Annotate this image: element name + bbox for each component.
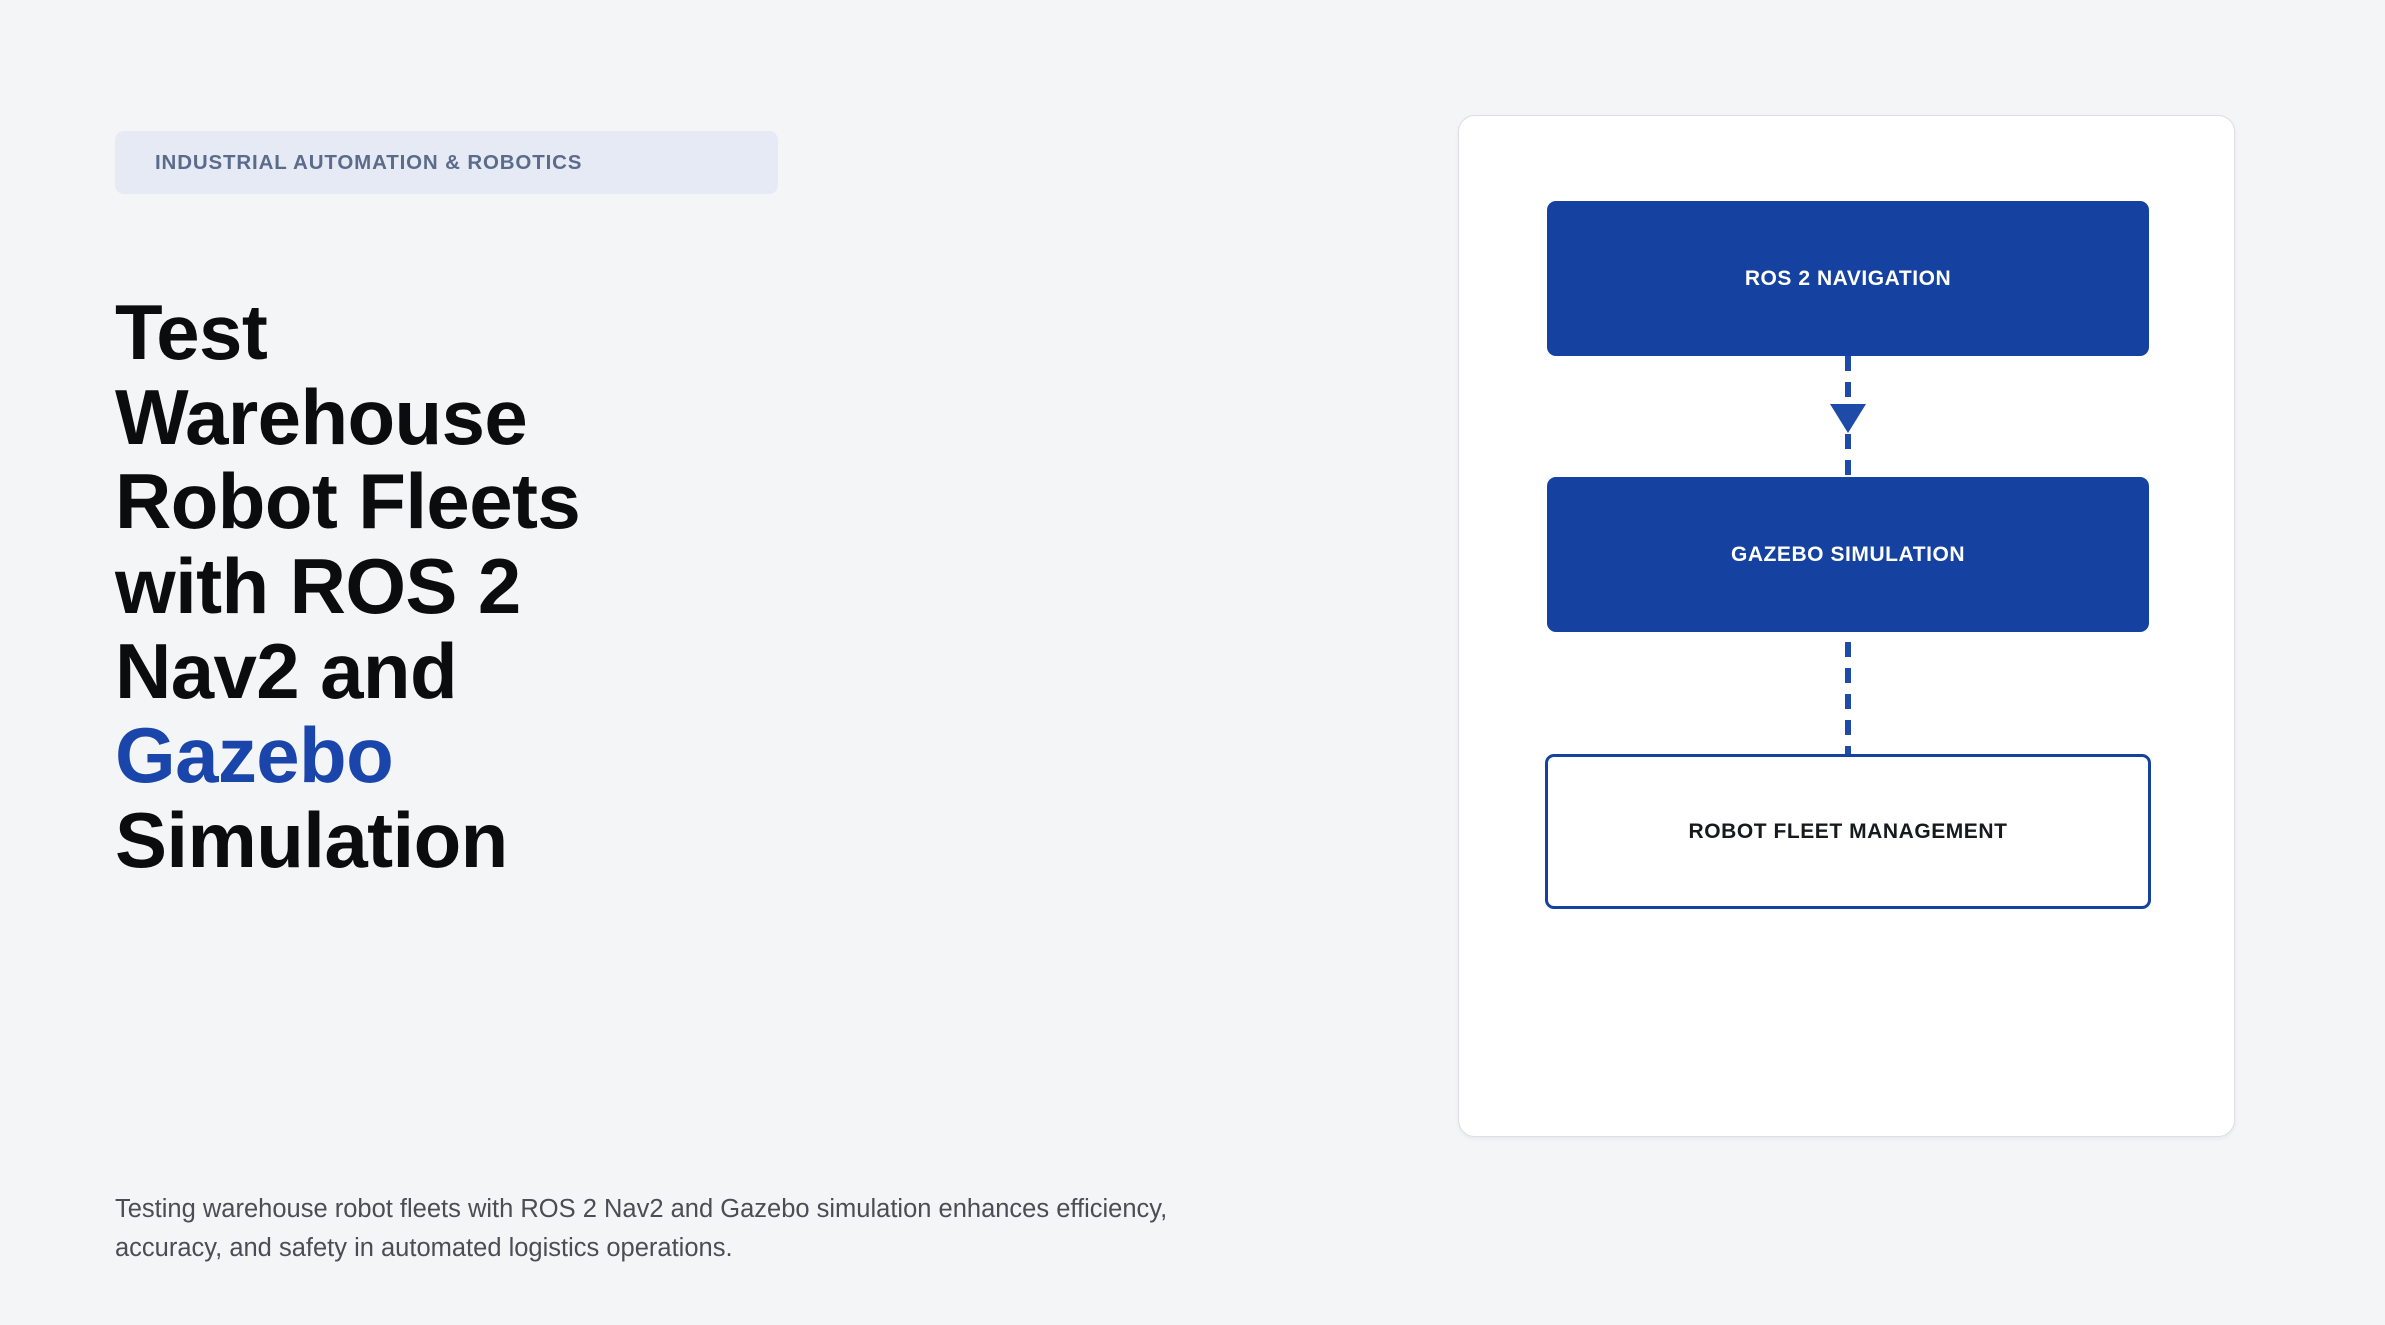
- headline-tail-word: Simulation: [115, 796, 508, 884]
- eyebrow-badge: INDUSTRIAL AUTOMATION & ROBOTICS: [115, 131, 778, 194]
- flow-node-label: ROS 2 NAVIGATION: [1745, 267, 1951, 291]
- flow-node-label: GAZEBO SIMULATION: [1731, 543, 1965, 567]
- diagram-card: ROS 2 NAVIGATION GAZEBO SIMULATION ROBOT…: [1458, 115, 2235, 1137]
- flow-node-ros2-navigation[interactable]: ROS 2 NAVIGATION: [1547, 201, 2149, 356]
- headline-line-5: Nav2 and: [115, 627, 457, 715]
- headline-line-4: with ROS 2: [115, 542, 521, 630]
- flow-node-gazebo-simulation[interactable]: GAZEBO SIMULATION: [1547, 477, 2149, 632]
- hero-description: Testing warehouse robot fleets with ROS …: [115, 1190, 1175, 1268]
- headline-line-3: Robot Fleets: [115, 457, 580, 545]
- page-title: Test Warehouse Robot Fleets with ROS 2 N…: [115, 290, 935, 882]
- headline-accent-word: Gazebo: [115, 711, 393, 799]
- flow-node-label: ROBOT FLEET MANAGEMENT: [1689, 820, 2008, 844]
- headline-line-2: Warehouse: [115, 373, 527, 461]
- eyebrow-badge-label: INDUSTRIAL AUTOMATION & ROBOTICS: [115, 151, 582, 175]
- flow-node-robot-fleet-management[interactable]: ROBOT FLEET MANAGEMENT: [1545, 754, 2151, 909]
- diagram-stage: ROS 2 NAVIGATION GAZEBO SIMULATION ROBOT…: [1459, 116, 2234, 1136]
- hero-text-column: INDUSTRIAL AUTOMATION & ROBOTICS Test Wa…: [115, 0, 1315, 1325]
- connector-arrowhead-icon: [1830, 404, 1866, 433]
- headline-line-1: Test: [115, 288, 267, 376]
